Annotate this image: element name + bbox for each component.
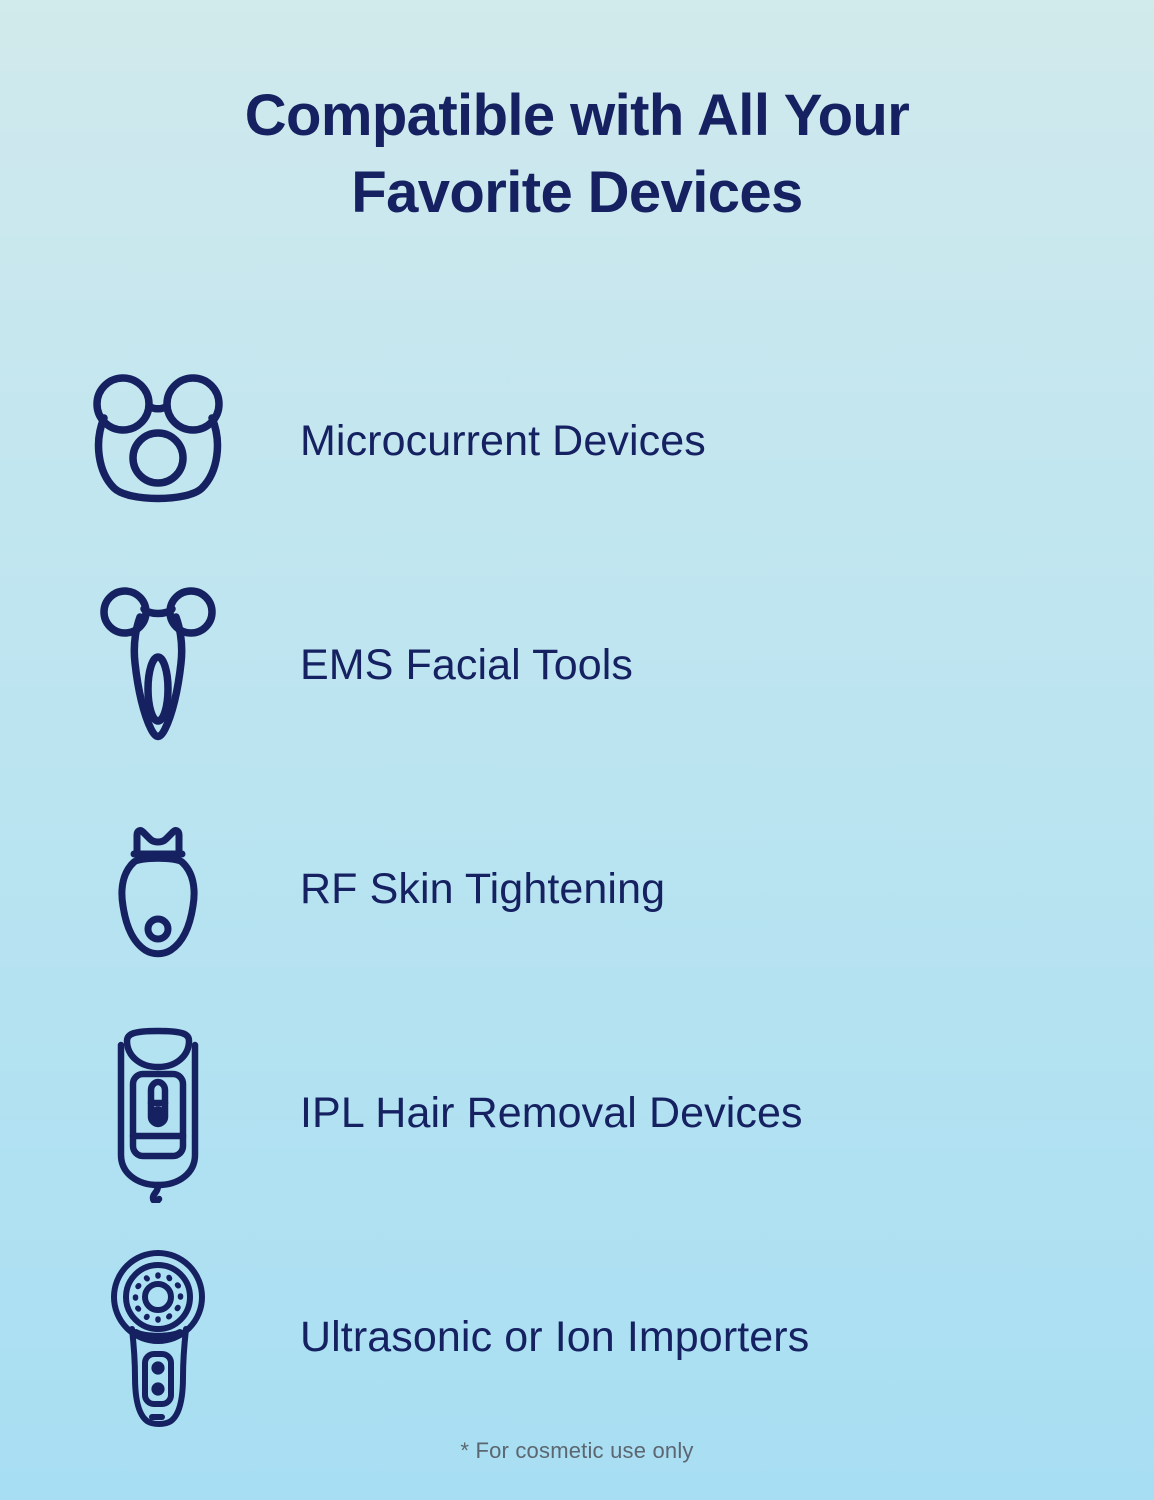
- list-item: EMS Facial Tools: [0, 554, 1154, 778]
- page-title: Compatible with All Your Favorite Device…: [0, 78, 1154, 231]
- device-label: Microcurrent Devices: [300, 418, 706, 465]
- list-item: RF Skin Tightening: [0, 778, 1154, 1002]
- page-title-block: Compatible with All Your Favorite Device…: [0, 78, 1154, 231]
- list-item: Ultrasonic or Ion Importers: [0, 1226, 1154, 1450]
- rf-skin-tightening-icon: [0, 803, 300, 978]
- footnote: * For cosmetic use only: [0, 1438, 1154, 1464]
- ultrasonic-ion-importer-icon: [0, 1251, 300, 1426]
- device-label: EMS Facial Tools: [300, 642, 633, 689]
- device-label: Ultrasonic or Ion Importers: [300, 1314, 809, 1361]
- list-item: IPL Hair Removal Devices: [0, 1002, 1154, 1226]
- microcurrent-device-icon: [0, 355, 300, 530]
- compatible-device-list: Microcurrent Devices EMS Facial Tools: [0, 330, 1154, 1450]
- ipl-hair-removal-icon: [0, 1027, 300, 1202]
- ems-facial-tool-icon: [0, 579, 300, 754]
- promo-page: Compatible with All Your Favorite Device…: [0, 0, 1154, 1500]
- device-label: RF Skin Tightening: [300, 866, 665, 913]
- list-item: Microcurrent Devices: [0, 330, 1154, 554]
- device-label: IPL Hair Removal Devices: [300, 1090, 803, 1137]
